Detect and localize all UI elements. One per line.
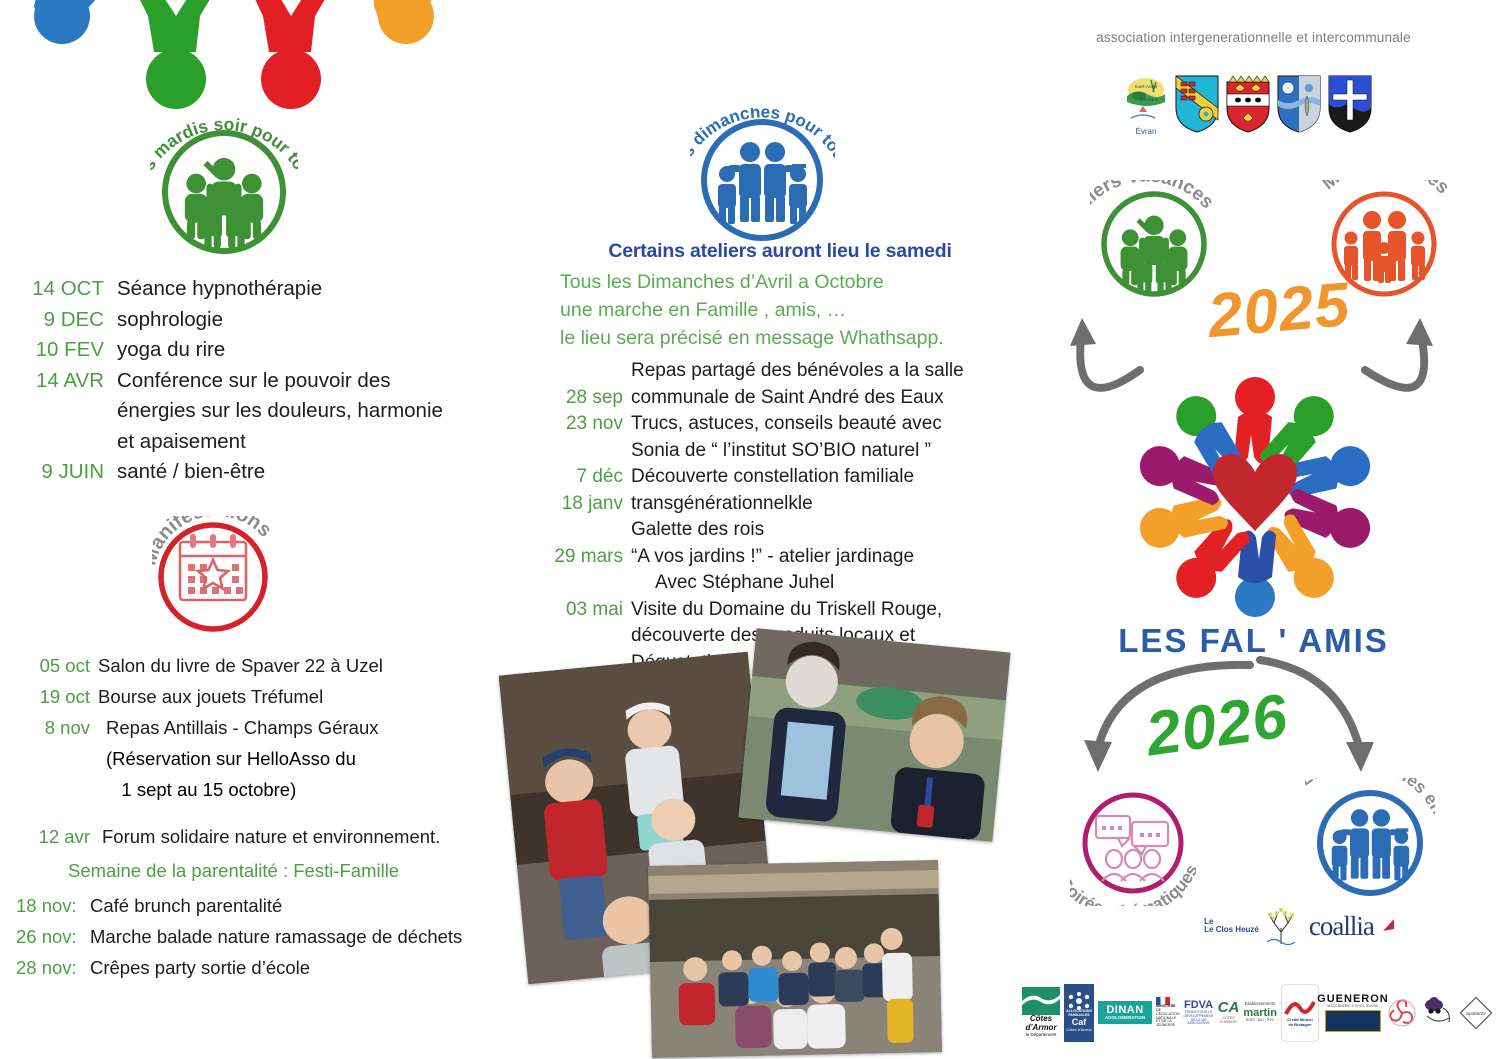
list-item: 8 novRepas Antillais - Champs Géraux [16, 712, 496, 743]
mardis-list: 14 OCTSéance hypnothérapie 9 DECsophrolo… [26, 274, 496, 488]
sponsor-line2: CÔTES D’ARMOR [1218, 1017, 1240, 1025]
sponsor-caf: ALLOCATIONS FAMILIALES Caf Côtes d’Armor [1064, 984, 1094, 1042]
list-item: 10 FEVyoga du rire [26, 335, 496, 366]
partner-le-clos-heuze: Le Le Clos Heuzé [1204, 906, 1301, 946]
arms-commune-5 [1327, 74, 1373, 134]
item-date: 12 avr [16, 821, 90, 852]
item-text: communale de Saint André des Eaux [631, 385, 1010, 412]
item-text: Trucs, astuces, conseils beauté avec [631, 411, 1010, 438]
item-text: Découverte constellation familiale [631, 464, 1010, 491]
falamis-people-circle-logo [1120, 365, 1390, 630]
subtext-line: Tous les Dimanches d’Avril a Octobre [560, 268, 1010, 296]
item-text: Repas partagé des bénévoles a la salle [631, 358, 1010, 385]
svg-text:Saint-André: Saint-André [1135, 84, 1158, 89]
item-date: 8 nov [16, 712, 90, 743]
sponsor-tribal [1421, 984, 1455, 1042]
partner-coallia: coallia [1309, 911, 1374, 942]
arms-label-evran: Évran [1136, 127, 1157, 136]
sponsor-credit-mutuel: Crédit Mutuel de Bretagne [1281, 984, 1319, 1042]
spotter22-diamond-icon: Spotter22 [1459, 996, 1493, 1030]
partner-label-clos-heuze: Le Clos Heuzé [1204, 926, 1259, 934]
item-date: 14 AVR [26, 366, 104, 397]
sponsor-line3: BOIS · AIU · PVC [1246, 1019, 1274, 1023]
list-item: 19 octBourse aux jouets Tréfumel [16, 681, 496, 712]
item-cont: et apaisement [117, 427, 496, 458]
sponsor-etablissements-martin: Etablissements martin BOIS · AIU · PVC [1243, 984, 1277, 1042]
list-item: 28 nov:Crêpes party sortie d’école [16, 952, 496, 983]
list-item: 23 novTrucs, astuces, conseils beauté av… [515, 411, 1010, 438]
item-text: Visite du Domaine du Triskell Rouge, [631, 597, 1010, 624]
arms-commune-3 [1225, 74, 1271, 134]
arms-saint-andre-des-eaux-evran: Saint-André des Eaux Évran [1123, 74, 1169, 134]
list-item: 9 JUINsanté / bien-être [26, 457, 496, 488]
list-item: 12 avrForum solidaire nature et environn… [16, 821, 496, 852]
dimanches-subtext: Tous les Dimanches d’Avril a Octobre une… [560, 268, 1010, 352]
item-text: Salon du livre de Spaver 22 à Uzel [98, 650, 496, 681]
sponsors-row: Côtes d’Armor le Département ALLOCATIONS… [1022, 975, 1492, 1050]
photo-group-shelter [648, 860, 942, 1058]
item-date: 18 janv [515, 491, 623, 518]
item-cont: (Réservation sur HelloAsso du [106, 743, 496, 774]
caf-logo-icon [1066, 992, 1092, 1010]
samedi-headline: Certains ateliers auront lieu le samedi [565, 240, 995, 263]
list-item: 14 OCTSéance hypnothérapie [26, 274, 496, 305]
triskell-icon [1387, 998, 1417, 1028]
sponsor-line1: GUENERON [1317, 993, 1389, 1005]
item-date: 10 FEV [26, 335, 104, 366]
association-tagline: association intergenerationnelle et inte… [1010, 30, 1497, 45]
list-item: 03 maiVisite du Domaine du Triskell Roug… [515, 597, 1010, 624]
logo-dimanches-pour-tous: les dimanches pour tous [690, 108, 835, 253]
list-item: 9 DECsophrologie [26, 305, 496, 336]
item-text: Crêpes party sortie d’école [90, 952, 496, 983]
item-date: 19 oct [16, 681, 90, 712]
year-2025: 2025 [1205, 269, 1353, 352]
item-date: 9 DEC [26, 305, 104, 336]
item-date: 28 nov: [16, 952, 84, 983]
list-item: 18 nov:Café brunch parentalité [16, 890, 496, 921]
festi-famille-block: Semaine de la parentalité : Festi-Famill… [16, 855, 496, 983]
item-text: sophrologie [117, 305, 496, 336]
list-item: 14 AVRConférence sur le pouvoir des [26, 366, 496, 397]
tree-icon [1261, 906, 1301, 946]
sponsor-local [1387, 984, 1417, 1042]
credit-mutuel-icon [1284, 998, 1316, 1018]
logo-manifestations: Manifestations [152, 516, 274, 638]
subtext-line: une marche en Famille , amis, … [560, 296, 1010, 324]
item-text: Conférence sur le pouvoir des [117, 366, 496, 397]
arms-commune-2 [1174, 74, 1220, 134]
sponsor-line3: ET DE LA JEUNESSE [1156, 1020, 1180, 1028]
brand-falamis: LES FAL ' AMIS [1010, 622, 1497, 660]
sponsor-credit-agricole: CA CÔTES D’ARMOR [1218, 984, 1240, 1042]
item-text: Café brunch parentalité [90, 890, 496, 921]
list-item: Repas partagé des bénévoles a la salle [515, 358, 1010, 385]
sponsor-cotes-darmor: Côtes d’Armor le Département [1022, 984, 1060, 1042]
list-item: 05 octSalon du livre de Spaver 22 à Uzel [16, 650, 496, 681]
item-text: Marche balade nature ramassage de déchet… [90, 921, 496, 952]
coats-of-arms-row: Saint-André des Eaux Évran [1123, 56, 1385, 134]
item-date: 7 déc [515, 464, 623, 491]
item-date: 28 sep [515, 385, 623, 412]
sponsor-ministere: MINISTÈRE DE L’ÉDUCATION NATIONALE ET DE… [1156, 984, 1180, 1042]
list-item: 7 décDécouverte constellation familiale [515, 464, 1010, 491]
item-date: 18 nov: [16, 890, 84, 921]
left-column: Les mardis soir pour tous 14 OCTSéance h… [0, 0, 505, 1059]
sponsor-spotter22: Spotter22 [1459, 984, 1493, 1042]
item-date: 9 JUIN [26, 457, 104, 488]
item-date: 26 nov: [16, 921, 84, 952]
item-text: Séance hypnothérapie [117, 274, 496, 305]
svg-text:des Eaux: des Eaux [1140, 97, 1159, 102]
sponsor-line2: de Bretagne [1288, 1023, 1311, 1027]
item-date: 29 mars [515, 544, 623, 571]
list-item: 18 janvtransgénérationnelkle [515, 491, 1010, 518]
festi-heading: Semaine de la parentalité : Festi-Famill… [68, 855, 496, 886]
sponsor-line2: MAÇONNERIE À GROS ŒUVRE [1328, 1005, 1379, 1009]
colorful-people-band-icon [0, 0, 470, 114]
partners-row: Le Le Clos Heuzé coallia [1170, 900, 1430, 952]
item-date: 03 mai [515, 597, 623, 624]
sponsor-fdva: FDVA FONDS POUR LE DÉVELOPPEMENT DE LA V… [1184, 984, 1214, 1042]
item-text: santé / bien-être [117, 457, 496, 488]
arms-commune-4 [1276, 74, 1322, 134]
item-text: yoga du rire [117, 335, 496, 366]
sponsor-line2: AGGLOMÉRATION [1098, 1016, 1152, 1021]
item-cont: Sonia de “ l’institut SO’BIO naturel ” [631, 438, 1010, 465]
coallia-arrow-icon [1382, 917, 1396, 935]
manifestations-list: 05 octSalon du livre de Spaver 22 à Uzel… [16, 650, 496, 852]
item-cont: Galette des rois [631, 517, 1010, 544]
list-item: 28 sepcommunale de Saint André des Eaux [515, 385, 1010, 412]
item-text: Repas Antillais - Champs Géraux [106, 712, 496, 743]
middle-column: les dimanches pour tous Certains atelier… [505, 0, 1010, 1059]
subtext-line: le lieu sera précisé en message Whathsap… [560, 324, 1010, 352]
item-text: transgénérationnelkle [631, 491, 1010, 518]
sponsor-line1: Spotter22 [1466, 1011, 1486, 1016]
item-text: Bourse aux jouets Tréfumel [98, 681, 496, 712]
sponsor-line3: DE LA VIE ASSOCIATIVE [1184, 1019, 1214, 1026]
right-column: association intergenerationnelle et inte… [1010, 0, 1497, 1059]
list-item: 29 mars“A vos jardins !” - atelier jardi… [515, 544, 1010, 571]
sponsor-line3: Côtes d’Armor [1066, 1028, 1092, 1032]
item-date: 14 OCT [26, 274, 104, 305]
photo-facepainting [738, 628, 1010, 842]
item-cont: Avec Stéphane Juhel [655, 570, 1010, 597]
sponsor-line3: le Département [1026, 1033, 1057, 1038]
circle-soirees-thematiques[interactable]: Les Soirées thématiques [1070, 780, 1196, 906]
sponsor-line1: CA [1218, 1000, 1240, 1017]
item-cont: 1 sept au 15 octobre) [106, 774, 496, 805]
flyer-page: Les mardis soir pour tous 14 OCTSéance h… [0, 0, 1497, 1059]
item-cont: énergies sur les douleurs, harmonie [117, 396, 496, 427]
item-date: 23 nov [515, 411, 623, 438]
sponsor-dinan: DINAN AGGLOMÉRATION [1098, 984, 1152, 1042]
hat-character-icon [1421, 996, 1455, 1030]
sponsor-gueneron: GUENERON MAÇONNERIE À GROS ŒUVRE [1323, 984, 1383, 1042]
item-date: 05 oct [16, 650, 90, 681]
list-item: 26 nov:Marche balade nature ramassage de… [16, 921, 496, 952]
item-text: “A vos jardins !” - atelier jardinage [631, 544, 1010, 571]
circle-dimanches-en-famille[interactable]: Les dimanches en famille [1305, 778, 1435, 908]
item-text: Forum solidaire nature et environnement. [102, 821, 496, 852]
logo-mardis-soir-pour-tous: Les mardis soir pour tous [150, 118, 298, 266]
